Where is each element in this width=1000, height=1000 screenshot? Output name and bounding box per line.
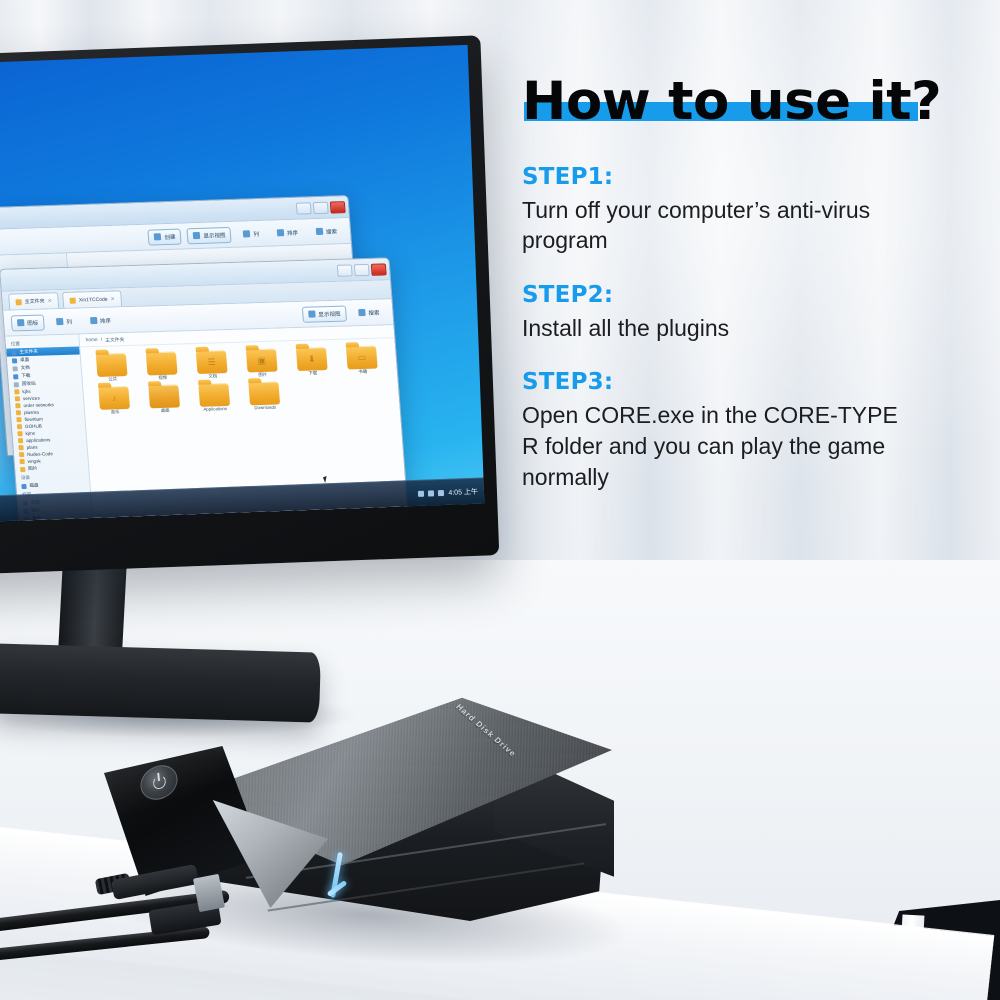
- toolbar-icons-label: 图标: [27, 318, 39, 326]
- tray-icon[interactable]: [438, 489, 444, 495]
- toolbar-new-button[interactable]: 创建: [148, 228, 182, 245]
- step-1-label: STEP1:: [522, 164, 962, 190]
- sidebar-item-label: 下载: [21, 373, 31, 379]
- step-2-text: Install all the plugins: [522, 313, 902, 344]
- toolbar-search-label: 搜索: [368, 308, 380, 316]
- folder-item[interactable]: ⬇ 下载: [289, 347, 335, 377]
- disk-icon: [21, 483, 26, 488]
- sidebar-item-label: 回收站: [22, 381, 36, 387]
- sidebar-item-label: Nudes-Code: [27, 451, 53, 457]
- page-title: How to use it?: [522, 74, 941, 130]
- folder-icon: [70, 297, 76, 303]
- step-2-label: STEP2:: [522, 282, 962, 308]
- tray-icon[interactable]: [428, 490, 434, 496]
- step-3-text: Open CORE.exe in the CORE-TYPE R folder …: [522, 400, 902, 492]
- toolbar-search-button[interactable]: 搜索: [309, 223, 343, 240]
- sidebar-item-label: kjhs: [22, 389, 31, 394]
- sidebar-item-label: 主文件夹: [19, 349, 38, 356]
- close-button[interactable]: [330, 201, 346, 213]
- folder-icon: [14, 389, 19, 394]
- folder-icon: [248, 381, 280, 405]
- columns-icon: [243, 230, 251, 237]
- folder-icon: [96, 353, 128, 377]
- toolbar-columns-button[interactable]: 列: [237, 225, 266, 242]
- toolbar-columns-label: 列: [66, 317, 72, 325]
- toolbar-columns-button[interactable]: 列: [50, 313, 79, 330]
- toolbar-sort-label: 排序: [287, 228, 299, 236]
- folder-icon: ▣: [246, 349, 278, 373]
- maximize-button[interactable]: [354, 263, 370, 275]
- folder-glyph: ♪: [112, 394, 117, 403]
- instructions-panel: How to use it? STEP1: Turn off your comp…: [522, 74, 962, 518]
- folder-icon: [148, 384, 180, 408]
- taskbar-clock[interactable]: 4:05 上午: [448, 486, 478, 497]
- folder-item[interactable]: ☰ 文档: [189, 350, 235, 380]
- download-icon: [13, 374, 18, 379]
- folder-label: 公共: [91, 377, 135, 383]
- toolbar-search-label: 搜索: [326, 227, 338, 235]
- trash-icon: [14, 382, 19, 387]
- sidebar-item-label: 磁盘: [29, 483, 39, 489]
- toolbar-new-label: 创建: [164, 232, 176, 240]
- breadcrumb-home[interactable]: home: [86, 337, 98, 342]
- folder-icon: ⬇: [296, 347, 328, 371]
- close-icon[interactable]: ✕: [110, 296, 115, 302]
- toolbar-columns-label: 列: [253, 229, 259, 237]
- folder-label: 音乐: [93, 410, 137, 416]
- sidebar-item-label: 桌面: [20, 357, 30, 363]
- folder-item[interactable]: Applications: [191, 383, 237, 413]
- toolbar-sort-label: 排序: [100, 316, 112, 324]
- sidebar-item-label: 图片: [28, 466, 38, 472]
- folder-icon: [20, 467, 25, 472]
- folder-icon: [18, 438, 23, 443]
- folder-icon: [146, 352, 178, 376]
- folder-label: Downloads: [243, 405, 287, 411]
- icons-view-icon: [17, 319, 25, 326]
- folder-icon: [198, 383, 230, 407]
- folder-icon: ♪: [98, 386, 130, 410]
- folder-icon: [19, 459, 24, 464]
- folder-icon: [15, 299, 21, 305]
- toolbar-search-button[interactable]: 搜索: [352, 304, 386, 321]
- minimize-button[interactable]: [296, 202, 312, 214]
- folder-item[interactable]: 视频: [139, 351, 185, 381]
- toolbar-view-button[interactable]: 显示视图: [302, 305, 347, 322]
- folder-icon: ☰: [196, 350, 228, 374]
- tab-label: Xin1TCCode: [79, 296, 108, 303]
- sidebar-item-label: applications: [26, 437, 51, 443]
- toolbar-view-label: 显示视图: [318, 309, 341, 318]
- step-3-label: STEP3:: [522, 369, 962, 395]
- folder-icon: [16, 417, 21, 422]
- sidebar-item-label: wngsk: [27, 459, 40, 464]
- folder-icon: [16, 410, 21, 415]
- sort-icon: [90, 317, 98, 324]
- breadcrumb-current[interactable]: 主文件夹: [105, 336, 125, 344]
- folder-item[interactable]: ▣ 图片: [239, 348, 285, 378]
- sidebar-item-label: order networks: [23, 402, 54, 408]
- toolbar-sort-button[interactable]: 排序: [270, 224, 304, 241]
- toolbar-icons-button[interactable]: 图标: [11, 314, 45, 331]
- toolbar-view-label: 显示视图: [203, 231, 226, 240]
- folder-item[interactable]: ▭ 书籍: [339, 345, 385, 375]
- search-icon: [358, 309, 366, 316]
- sidebar-item-label: plasma: [24, 410, 39, 415]
- folder-glyph: ▭: [357, 354, 366, 363]
- folder-label: 图片: [241, 372, 285, 378]
- folder-label: Applications: [193, 407, 237, 413]
- folder-item[interactable]: Downloads: [241, 381, 287, 411]
- close-icon[interactable]: ✕: [47, 298, 52, 304]
- folder-item[interactable]: 桌面: [141, 384, 187, 414]
- folder-label: 桌面: [143, 408, 187, 414]
- folder-label: 文档: [191, 374, 235, 380]
- tab-xin1tccode[interactable]: Xin1TCCode ✕: [62, 290, 122, 308]
- folder-icon: [17, 424, 22, 429]
- folder-label: 书籍: [341, 369, 385, 375]
- power-icon: [152, 774, 166, 790]
- step-1-text: Turn off your computer’s anti-virus prog…: [522, 195, 902, 256]
- breadcrumb-separator: /: [101, 337, 103, 342]
- tab-home-folder[interactable]: 主文件夹 ✕: [8, 292, 59, 309]
- folder-glyph: ⬇: [308, 355, 316, 364]
- folder-item[interactable]: ♪ 音乐: [91, 386, 137, 416]
- sidebar-item-label: services: [23, 396, 40, 401]
- desktop-icon: [12, 358, 17, 363]
- sidebar-item-label: flowrtium: [24, 417, 43, 423]
- folder-icon: [15, 403, 20, 408]
- sidebar-item-label: plans: [26, 445, 37, 450]
- sidebar-item-label: GOHUB: [25, 424, 42, 429]
- new-folder-icon: [154, 233, 162, 240]
- monitor-screen: 创建 显示视图 列 排序: [0, 45, 484, 529]
- documents-icon: [12, 366, 17, 371]
- folder-item[interactable]: 公共: [89, 353, 135, 383]
- folder-icon: [19, 452, 24, 457]
- folder-glyph: ▣: [257, 357, 266, 366]
- step-1: STEP1: Turn off your computer’s anti-vir…: [522, 164, 962, 256]
- home-icon: [11, 350, 16, 355]
- view-icon: [308, 310, 316, 317]
- folder-label: 下载: [291, 371, 335, 377]
- step-3: STEP3: Open CORE.exe in the CORE-TYPE R …: [522, 369, 962, 492]
- folder-label: 视频: [141, 375, 185, 381]
- computer-monitor: 创建 显示视图 列 排序: [0, 35, 499, 580]
- folder-icon: [17, 431, 22, 436]
- view-icon: [193, 232, 201, 239]
- tray-icon[interactable]: [418, 490, 424, 496]
- page-title-wrap: How to use it?: [522, 74, 941, 130]
- search-icon: [316, 228, 324, 235]
- product-marketing-image: 创建 显示视图 列 排序: [0, 0, 1000, 1000]
- sort-icon: [277, 229, 285, 236]
- system-tray[interactable]: 4:05 上午: [418, 486, 478, 498]
- folder-icon: [15, 396, 20, 401]
- folder-glyph: ☰: [207, 358, 216, 367]
- sidebar-item-label: 文档: [20, 365, 30, 371]
- toolbar-sort-button[interactable]: 排序: [83, 312, 117, 329]
- maximize-button[interactable]: [313, 201, 329, 213]
- sidebar-item-label: kjms: [25, 431, 35, 436]
- close-button[interactable]: [371, 263, 387, 275]
- step-2: STEP2: Install all the plugins: [522, 282, 962, 344]
- columns-icon: [56, 318, 64, 325]
- minimize-button[interactable]: [337, 264, 353, 276]
- toolbar-view-button[interactable]: 显示视图: [187, 226, 232, 243]
- tab-label: 主文件夹: [24, 298, 45, 306]
- mouse-cursor: [323, 475, 332, 483]
- folder-icon: ▭: [346, 346, 378, 370]
- folder-icon: [18, 445, 23, 450]
